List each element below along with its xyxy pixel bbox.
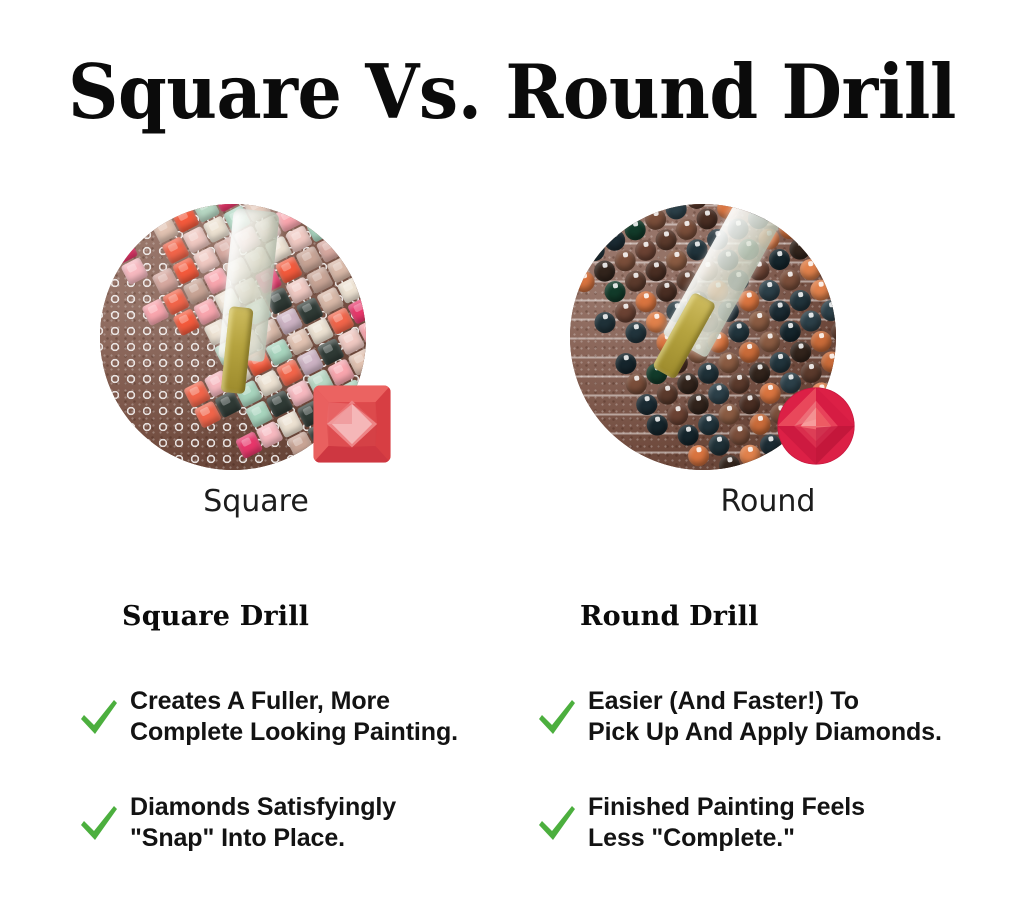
benefit-text: Creates A Fuller, More Complete Looking …: [130, 686, 458, 748]
square-drill-photo: [0, 196, 512, 481]
benefit-item: Creates A Fuller, More Complete Looking …: [120, 686, 580, 748]
benefit-text: Finished Painting Feels Less "Complete.": [588, 792, 865, 854]
benefit-item: Easier (And Faster!) To Pick Up And Appl…: [578, 686, 1024, 748]
benefits-column-round: Round Drill Easier (And Faster!) To Pick…: [578, 600, 1024, 898]
check-icon: [78, 695, 120, 739]
comparison-column-square: Square: [0, 196, 512, 536]
benefit-item: Diamonds Satisfyingly "Snap" Into Place.: [120, 792, 580, 854]
round-drill-heading: Round Drill: [580, 600, 1024, 634]
benefit-item: Finished Painting Feels Less "Complete.": [578, 792, 1024, 854]
square-gem-icon: [310, 382, 394, 466]
check-icon: [536, 695, 578, 739]
benefit-text: Diamonds Satisfyingly "Snap" Into Place.: [130, 792, 396, 854]
page-title: Square Vs. Round Drill: [36, 46, 988, 138]
round-photo-caption: Round: [512, 482, 1024, 522]
benefits-section: Square Drill Creates A Fuller, More Comp…: [0, 600, 1024, 900]
round-gem-icon: [774, 384, 858, 468]
comparison-row: Square: [0, 196, 1024, 536]
check-icon: [78, 801, 120, 845]
square-drill-heading: Square Drill: [122, 600, 580, 634]
check-icon: [536, 801, 578, 845]
comparison-column-round: Round: [512, 196, 1024, 536]
benefits-column-square: Square Drill Creates A Fuller, More Comp…: [120, 600, 580, 898]
round-drill-photo: [512, 196, 1024, 481]
benefit-text: Easier (And Faster!) To Pick Up And Appl…: [588, 686, 942, 748]
